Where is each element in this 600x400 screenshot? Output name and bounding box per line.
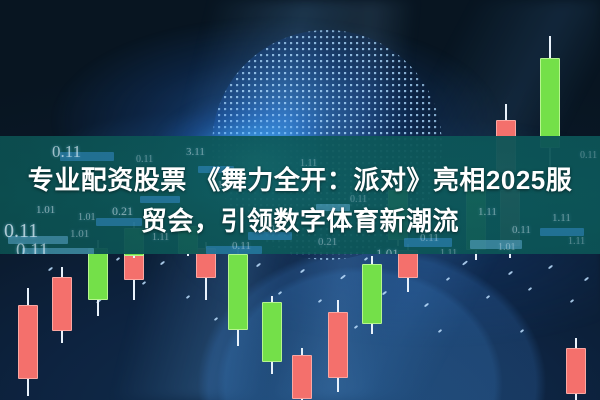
candlestick-body bbox=[262, 302, 282, 362]
candlestick-body bbox=[362, 264, 382, 324]
candlestick-body bbox=[292, 355, 312, 399]
candlestick-down bbox=[292, 348, 312, 400]
candlestick-body bbox=[18, 305, 38, 379]
candlestick-body bbox=[566, 348, 586, 394]
band-number: 3.11 bbox=[186, 146, 205, 158]
candlestick-down bbox=[566, 338, 586, 400]
headline-line-2: 贸会，引领数字体育新潮流 bbox=[0, 201, 600, 242]
candlestick-body bbox=[398, 250, 418, 278]
banner-image: 0.110.110.111.011.011.010.210.111.113.11… bbox=[0, 0, 600, 400]
band-number: 0.11 bbox=[52, 142, 81, 162]
candlestick-body bbox=[52, 277, 72, 331]
headline-line-1: 专业配资股票 《舞力全开：派对》亮相2025服 bbox=[0, 160, 600, 201]
band-number: 1.01 bbox=[376, 246, 399, 254]
band-number: 1.01 bbox=[498, 242, 516, 253]
candlestick-body bbox=[228, 254, 248, 330]
candlestick-down bbox=[18, 288, 38, 396]
candlestick-up bbox=[362, 256, 382, 334]
candlestick-body bbox=[540, 58, 560, 148]
candlestick-down bbox=[52, 267, 72, 343]
band-number: 1.11 bbox=[440, 248, 457, 254]
candlestick-body bbox=[88, 248, 108, 300]
candlestick-down bbox=[328, 300, 348, 392]
candlestick-up bbox=[228, 246, 248, 346]
candlestick-body bbox=[328, 312, 348, 378]
candlestick-up bbox=[262, 296, 282, 374]
page-title: 专业配资股票 《舞力全开：派对》亮相2025服 贸会，引领数字体育新潮流 bbox=[0, 160, 600, 242]
band-number: 0.11 bbox=[16, 240, 49, 254]
